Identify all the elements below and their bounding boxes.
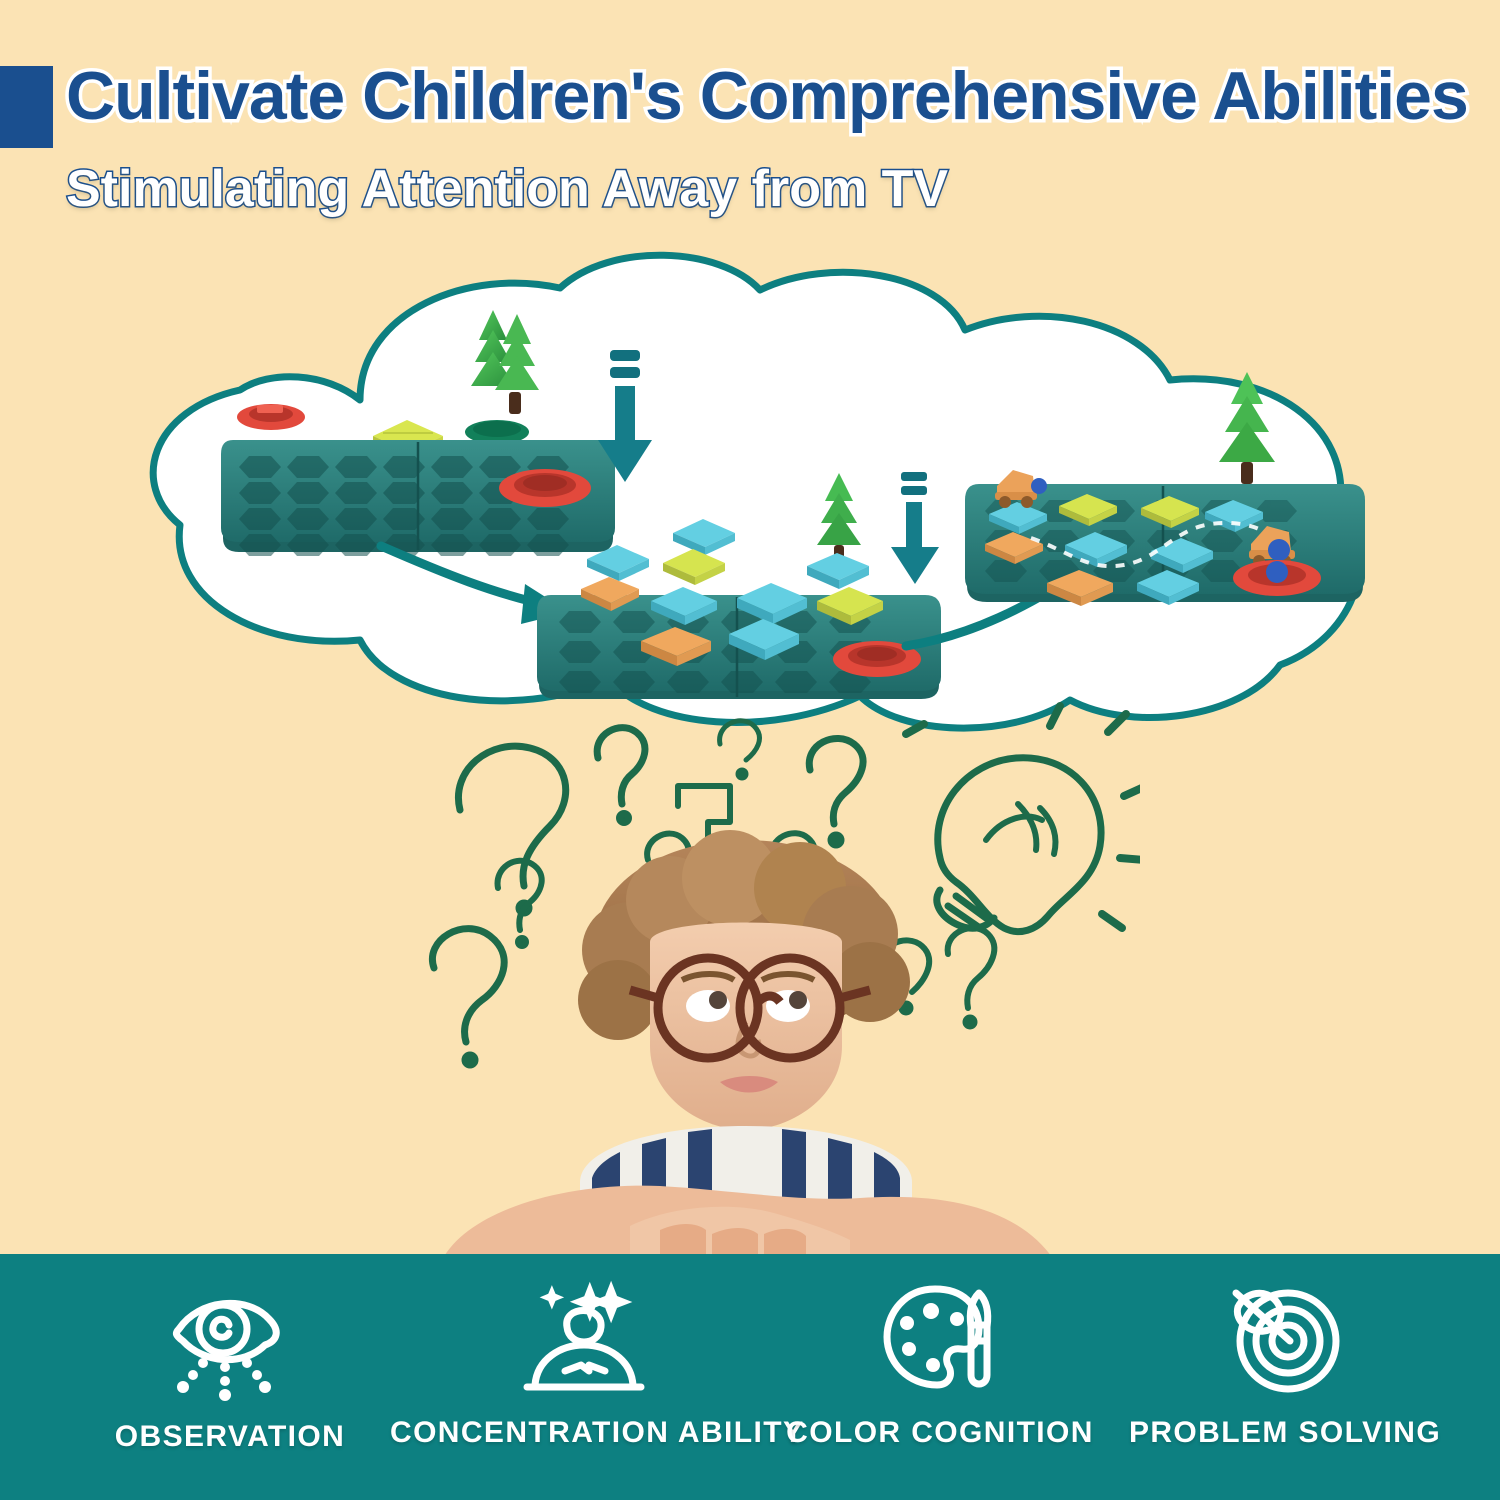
green-tree-pair	[471, 310, 539, 414]
target-dart-icon	[1090, 1280, 1480, 1400]
red-gear-crater	[1233, 560, 1321, 596]
cyan-road-tile	[673, 519, 735, 555]
blue-marble	[1266, 561, 1288, 583]
feature-label: COLOR COGNITION	[770, 1416, 1110, 1450]
page-subtitle: Stimulating Attention Away from TV	[66, 163, 1486, 216]
crossed-arms	[442, 1186, 1054, 1260]
yellow-road-tile	[663, 549, 725, 585]
question-mark-small	[720, 721, 760, 778]
feature-label: CONCENTRATION ABILITY	[390, 1416, 780, 1450]
paint-palette-icon	[770, 1280, 1110, 1400]
question-mark-thin	[597, 728, 645, 823]
accent-bar	[0, 66, 53, 148]
feature-color-cognition[interactable]: COLOR COGNITION	[770, 1280, 1110, 1450]
cyan-road-tile	[807, 553, 869, 589]
green-tree	[1219, 372, 1275, 484]
feature-concentration[interactable]: CONCENTRATION ABILITY	[390, 1280, 780, 1450]
meditation-icon	[390, 1280, 780, 1400]
blue-marble	[1268, 539, 1290, 561]
thinking-boy-photo	[330, 830, 1160, 1260]
features-row: OBSERVATION	[0, 1270, 1500, 1500]
blue-marble	[1031, 478, 1047, 494]
eye-icon	[40, 1284, 420, 1404]
cyan-road-tile	[587, 545, 649, 581]
stage-3-complete-board	[955, 370, 1375, 670]
page-title: Cultivate Children's Comprehensive Abili…	[66, 62, 1486, 131]
red-gear-crater-floating	[237, 404, 305, 430]
feature-problem-solving[interactable]: PROBLEM SOLVING	[1090, 1280, 1480, 1450]
product-stages	[110, 250, 1400, 740]
green-tree	[817, 473, 861, 559]
poster-canvas: Cultivate Children's Comprehensive Abili…	[0, 0, 1500, 1500]
feature-label: PROBLEM SOLVING	[1090, 1416, 1480, 1450]
feature-label: OBSERVATION	[40, 1420, 420, 1454]
feature-observation[interactable]: OBSERVATION	[40, 1284, 420, 1454]
